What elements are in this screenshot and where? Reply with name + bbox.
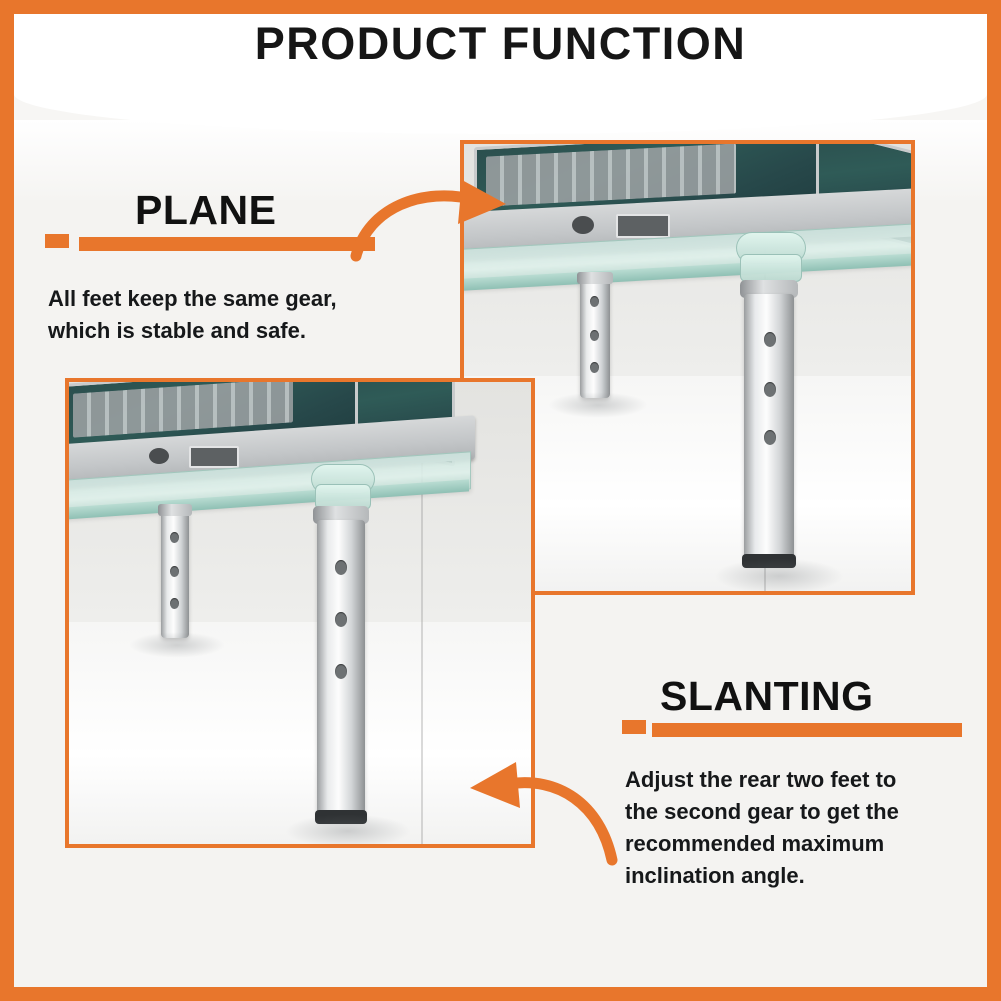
plane-heading-tick [45, 234, 69, 248]
slanting-heading: SLANTING [660, 676, 962, 717]
leg-rear-hole-3 [590, 362, 599, 373]
page-title: PRODUCT FUNCTION [0, 18, 1001, 70]
suction-knob-front-collar [740, 254, 802, 282]
slanting-heading-tick [622, 720, 646, 734]
plane-heading-group: PLANE [45, 190, 375, 251]
leg-rear-2-shadow [129, 632, 225, 658]
usb-port-2 [189, 446, 239, 468]
curved-arrow-right [350, 178, 520, 268]
leg-front-shadow [714, 558, 844, 594]
leg-rear-collar [577, 272, 613, 284]
leg-rear-2-hole-1 [170, 532, 179, 543]
slanting-heading-bar [652, 723, 962, 737]
product-function-infographic: PRODUCT FUNCTION [0, 0, 1001, 1001]
headphone-port [572, 216, 594, 234]
plane-heading: PLANE [135, 190, 375, 231]
slanting-description: Adjust the rear two feet to the second g… [625, 764, 955, 892]
leg-rear-hole-2 [590, 330, 599, 341]
slanting-heading-group: SLANTING [622, 676, 962, 737]
leg-front-hole-2 [764, 382, 776, 397]
headphone-port-2 [149, 448, 169, 464]
leg-rear-2-hole-2 [170, 566, 179, 577]
plane-description: All feet keep the same gear, which is st… [48, 283, 428, 347]
leg-rear-collar-2 [158, 504, 192, 516]
curved-arrow-left [440, 756, 620, 866]
leg-front-2-hole-1 [335, 560, 347, 575]
leg-rear-2-hole-3 [170, 598, 179, 609]
leg-front-2-hole-2 [335, 612, 347, 627]
usb-port [616, 214, 670, 238]
leg-front-2-hole-3 [335, 664, 347, 679]
plane-heading-bar [79, 237, 375, 251]
leg-front-hole-3 [764, 430, 776, 445]
leg-rear-shadow [548, 392, 648, 418]
leg-front-hole-1 [764, 332, 776, 347]
leg-front-2-shadow [285, 814, 411, 848]
leg-rear-hole-1 [590, 296, 599, 307]
